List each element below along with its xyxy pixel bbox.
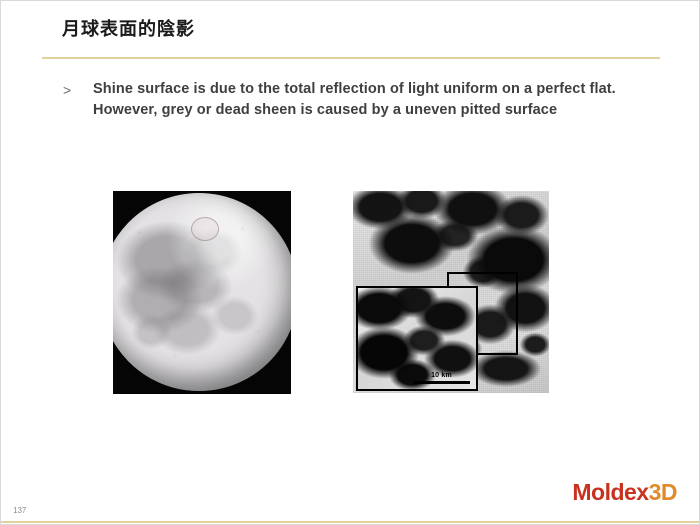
bullet-marker-icon: > [63,79,93,101]
page-number: 137 [13,506,26,515]
scale-bar-line [414,381,470,384]
moon-photo-watermark: ····· [197,383,208,389]
moldex3d-logo: Moldex3D [572,479,677,506]
page-title: 月球表面的陰影 [62,15,195,41]
title-divider [42,57,660,59]
moon-crater-ring [191,217,219,241]
logo-text-primary: Moldex [572,479,648,505]
scale-bar-label: 10 km [414,372,470,380]
footer-divider [1,521,700,523]
logo-text-secondary: 3D [649,479,677,505]
magnified-inset-panel: 10 km [356,286,478,391]
bullet-list-item: > Shine surface is due to the total refl… [63,79,653,121]
lunar-surface-figure: 10 km [353,191,549,393]
moon-photo-figure: ····· grey shine grey [113,191,291,394]
scale-bar: 10 km [414,372,470,384]
moon-disc [113,193,291,391]
bullet-body-text: Shine surface is due to the total reflec… [93,79,653,121]
slide-canvas: 月球表面的陰影 > Shine surface is due to the to… [0,0,700,525]
